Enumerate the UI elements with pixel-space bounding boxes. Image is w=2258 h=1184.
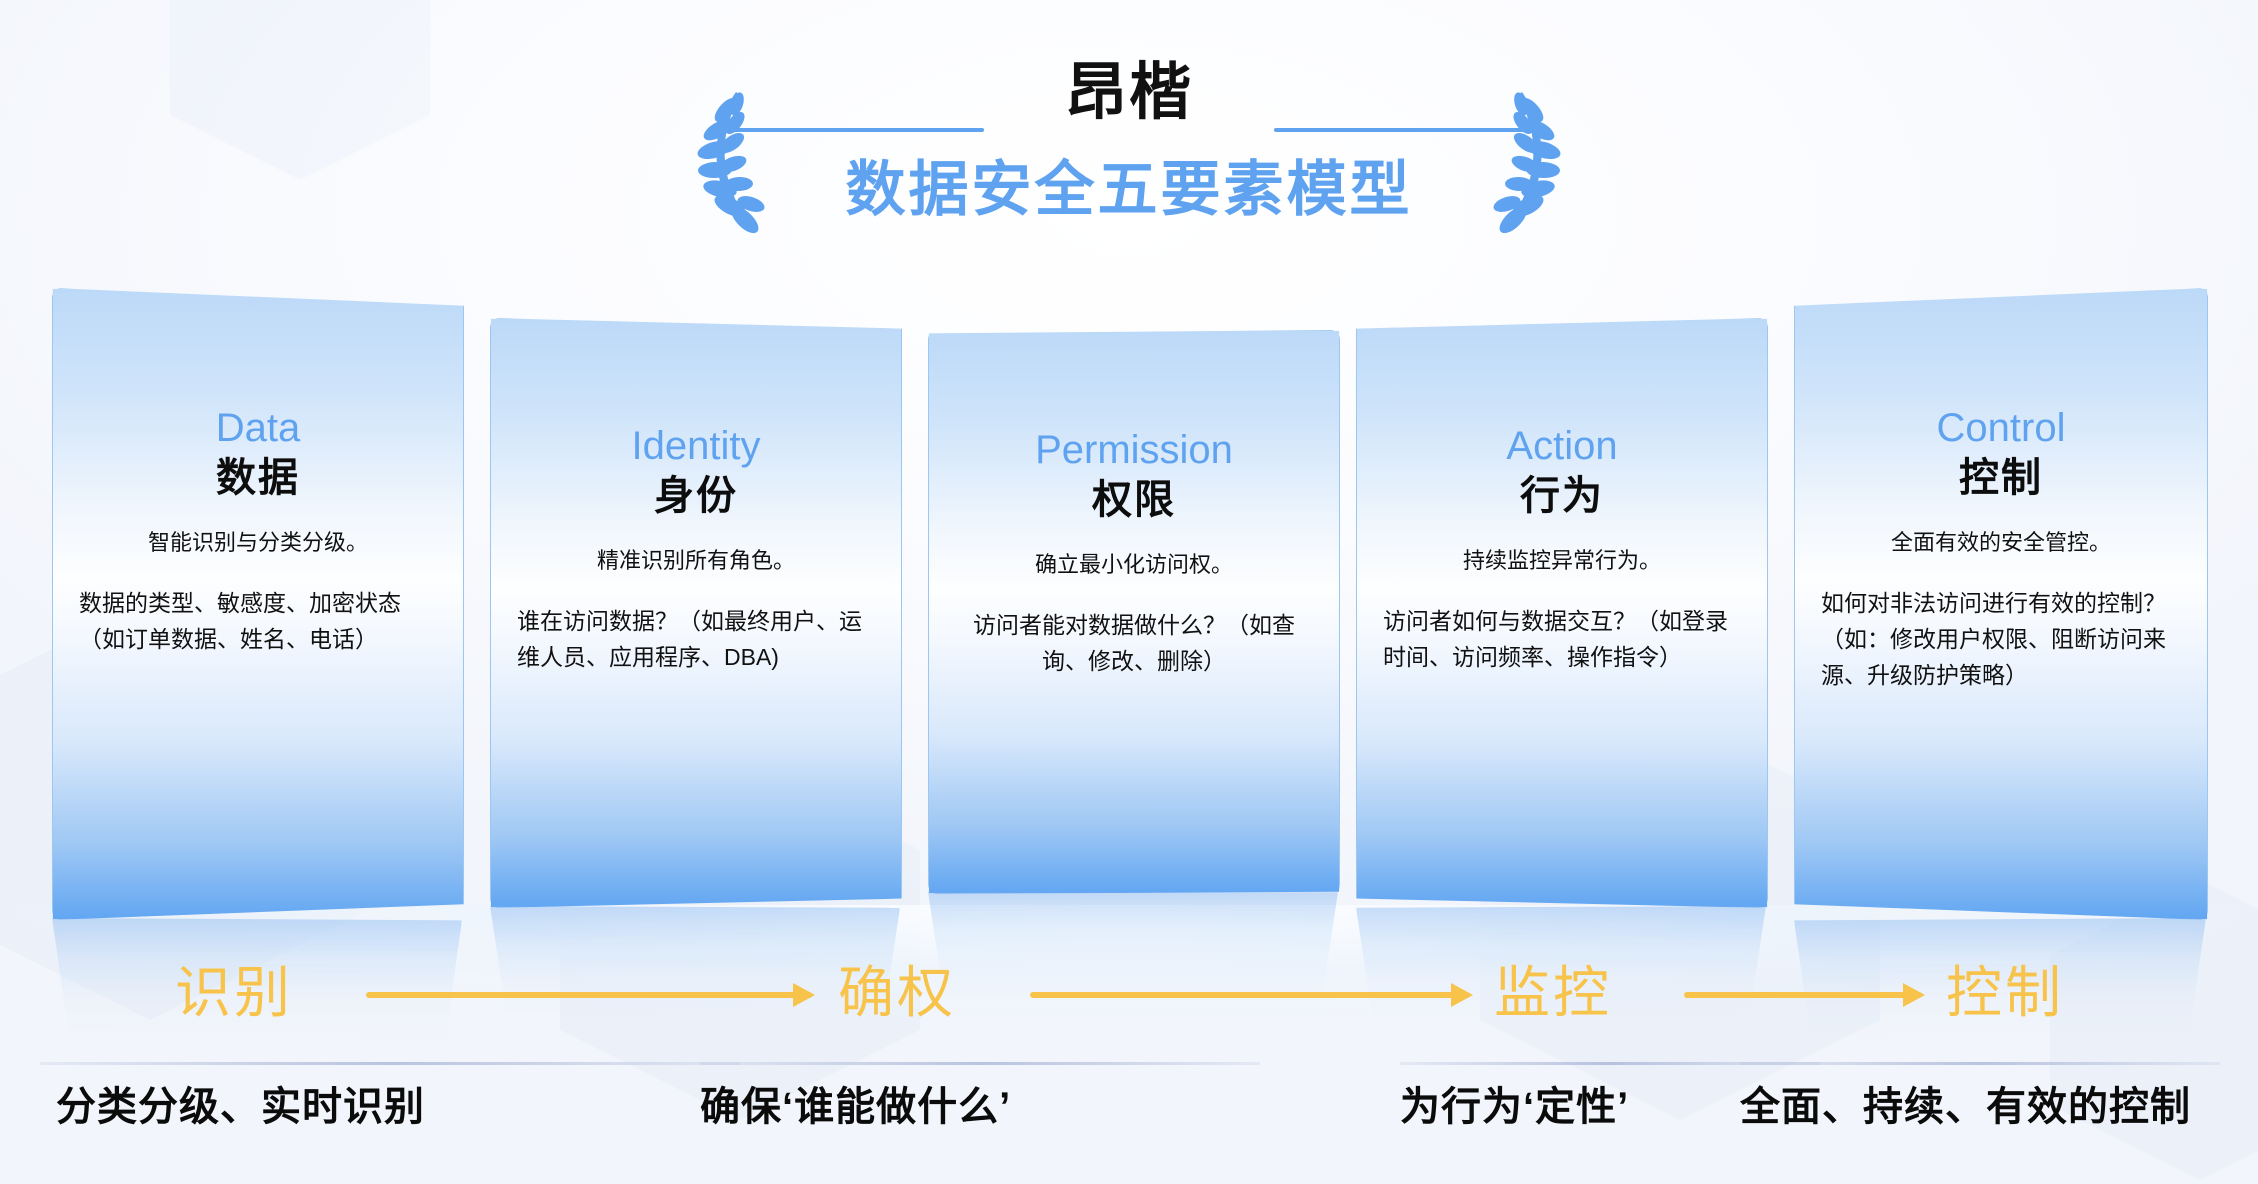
card-content: Permission 权限 确立最小化访问权。 访问者能对数据做什么？（如查询、… <box>929 427 1339 679</box>
flow-step-control: 控制 <box>1946 952 2064 1034</box>
card-cn-title: 权限 <box>1092 475 1176 525</box>
flow-arrow-3 <box>1684 992 1922 998</box>
caption-divider-4 <box>1740 1062 2220 1065</box>
card-content: Action 行为 持续监控异常行为。 访问者如何与数据交互？（如登录时间、访问… <box>1357 423 1767 675</box>
card-control[interactable]: Control 控制 全面有效的安全管控。 如何对非法访问进行有效的控制？（如：… <box>1794 288 2208 920</box>
process-flow: 识别 确权 监控 控制 <box>0 952 2258 1044</box>
caption-monitor: 为行为‘定性’ <box>1400 1080 1629 1134</box>
caption-divider-1 <box>40 1062 740 1065</box>
card-identity[interactable]: Identity 身份 精准识别所有角色。 谁在访问数据？（如最终用户、运维人员… <box>490 318 902 908</box>
card-content: Data 数据 智能识别与分类分级。 数据的类型、敏感度、加密状态（如订单数据、… <box>53 405 463 657</box>
caption-control: 全面、持续、有效的控制 <box>1740 1080 2191 1134</box>
caption-authorize: 确保‘谁能做什么’ <box>700 1080 1011 1134</box>
infographic-canvas: 昂楷 数据安全五要素模型 Data 数据 智能识别与分类分级。 数据的类型、敏感… <box>0 0 2258 1184</box>
card-en-title: Control <box>1937 405 2066 451</box>
card-cn-title: 身份 <box>654 471 738 521</box>
card-description: 谁在访问数据？（如最终用户、运维人员、应用程序、DBA) <box>517 603 875 675</box>
card-data[interactable]: Data 数据 智能识别与分类分级。 数据的类型、敏感度、加密状态（如订单数据、… <box>52 288 464 920</box>
card-description: 如何对非法访问进行有效的控制？（如：修改用户权限、阻断访问来源、升级防护策略） <box>1821 585 2181 693</box>
card-action[interactable]: Action 行为 持续监控异常行为。 访问者如何与数据交互？（如登录时间、访问… <box>1356 318 1768 908</box>
card-en-title: Identity <box>632 423 761 469</box>
card-permission[interactable]: Permission 权限 确立最小化访问权。 访问者能对数据做什么？（如查询、… <box>928 330 1340 894</box>
card-lead-text: 智能识别与分类分级。 <box>148 527 368 559</box>
card-cn-title: 数据 <box>216 453 300 503</box>
card-content: Identity 身份 精准识别所有角色。 谁在访问数据？（如最终用户、运维人员… <box>491 423 901 675</box>
caption-identify: 分类分级、实时识别 <box>56 1080 425 1134</box>
caption-divider-2 <box>700 1062 1260 1065</box>
flow-arrow-1 <box>366 992 812 998</box>
card-cn-title: 行为 <box>1520 471 1604 521</box>
card-lead-text: 持续监控异常行为。 <box>1463 545 1661 577</box>
card-content: Control 控制 全面有效的安全管控。 如何对非法访问进行有效的控制？（如：… <box>1795 405 2207 693</box>
card-cn-title: 控制 <box>1959 453 2043 503</box>
flow-arrow-2 <box>1030 992 1470 998</box>
card-description: 访问者如何与数据交互？（如登录时间、访问频率、操作指令） <box>1383 603 1741 675</box>
card-lead-text: 确立最小化访问权。 <box>1035 549 1233 581</box>
card-lead-text: 全面有效的安全管控。 <box>1891 527 2111 559</box>
flow-step-monitor: 监控 <box>1494 952 1612 1034</box>
card-en-title: Action <box>1506 423 1617 469</box>
flow-step-authorize: 确权 <box>838 952 956 1034</box>
card-description: 数据的类型、敏感度、加密状态（如订单数据、姓名、电话） <box>79 585 437 657</box>
card-en-title: Permission <box>1035 427 1233 473</box>
card-lead-text: 精准识别所有角色。 <box>597 545 795 577</box>
card-en-title: Data <box>216 405 301 451</box>
card-description: 访问者能对数据做什么？（如查询、修改、删除） <box>955 607 1313 679</box>
flow-step-identify: 识别 <box>175 952 293 1034</box>
